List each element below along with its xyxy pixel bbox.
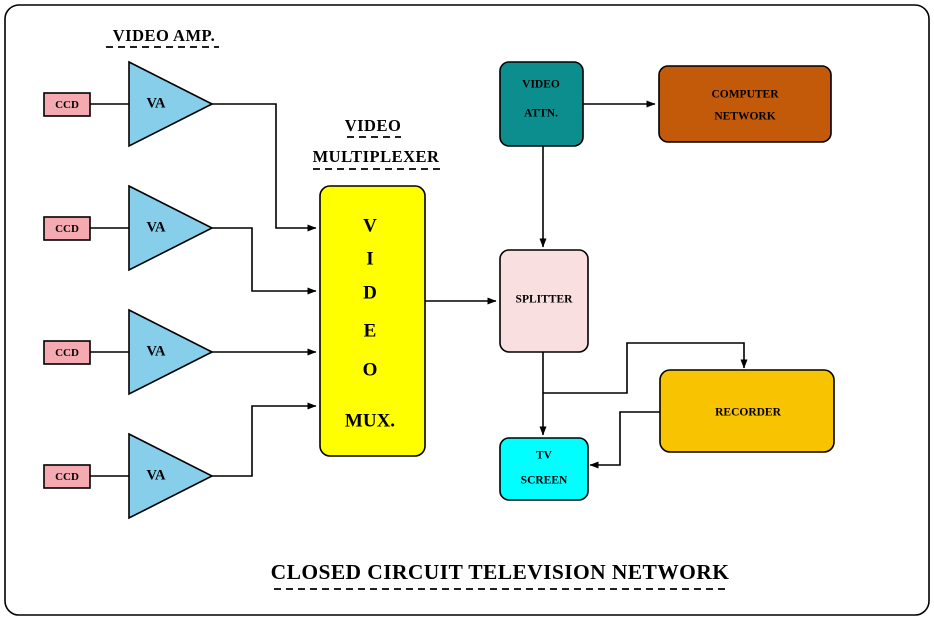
cctv-block-diagram: VIDEO AMP. VIDEO MULTIPLEXER bbox=[0, 0, 934, 620]
diagram-canvas: VIDEO AMP. VIDEO MULTIPLEXER bbox=[0, 0, 934, 620]
mux-label-line-2: I bbox=[366, 248, 373, 269]
ccd-label: CCD bbox=[55, 99, 79, 111]
video-attn-label-line1: VIDEO bbox=[522, 79, 560, 91]
video-attn-box[interactable] bbox=[500, 62, 583, 146]
mux-label-line-1: V bbox=[363, 215, 377, 236]
ccd-sensor-4[interactable]: CCD bbox=[44, 465, 90, 488]
va-label: VA bbox=[146, 467, 166, 483]
video-multiplexer-title-line1: VIDEO bbox=[345, 116, 402, 135]
computer-network-label-line2: NETWORK bbox=[714, 111, 775, 123]
video-multiplexer-block[interactable]: V I D E O MUX. bbox=[320, 186, 425, 456]
recorder-block[interactable]: RECORDER bbox=[660, 370, 834, 452]
splitter-label: SPLITTER bbox=[516, 294, 574, 306]
tv-screen-label-line1: TV bbox=[536, 450, 553, 462]
tv-screen-box[interactable] bbox=[500, 438, 588, 500]
recorder-label: RECORDER bbox=[715, 407, 782, 419]
va-label: VA bbox=[146, 219, 166, 235]
diagram-bottom-title: CLOSED CIRCUIT TELEVISION NETWORK bbox=[271, 560, 730, 584]
ccd-sensor-2[interactable]: CCD bbox=[44, 217, 90, 240]
va-label: VA bbox=[146, 95, 166, 111]
ccd-sensor-3[interactable]: CCD bbox=[44, 341, 90, 364]
tv-screen-block[interactable]: TV SCREEN bbox=[500, 438, 588, 500]
ccd-label: CCD bbox=[55, 471, 79, 483]
computer-network-box[interactable] bbox=[659, 66, 831, 142]
splitter-block[interactable]: SPLITTER bbox=[500, 250, 588, 352]
video-attn-label-line2: ATTN. bbox=[524, 108, 558, 120]
video-multiplexer-title-line2: MULTIPLEXER bbox=[313, 147, 440, 166]
video-amp-title: VIDEO AMP. bbox=[113, 26, 216, 45]
mux-label-line-3: D bbox=[363, 282, 377, 303]
computer-network-label-line1: COMPUTER bbox=[711, 89, 779, 101]
computer-network-block[interactable]: COMPUTER NETWORK bbox=[659, 66, 831, 142]
video-attenuator-block[interactable]: VIDEO ATTN. bbox=[500, 62, 583, 146]
ccd-sensor-1[interactable]: CCD bbox=[44, 93, 90, 116]
mux-label-line-5: O bbox=[363, 359, 378, 380]
mux-label-line-6: MUX. bbox=[345, 410, 395, 431]
ccd-label: CCD bbox=[55, 347, 79, 359]
va-label: VA bbox=[146, 343, 166, 359]
mux-label-line-4: E bbox=[364, 320, 377, 341]
ccd-label: CCD bbox=[55, 223, 79, 235]
tv-screen-label-line2: SCREEN bbox=[521, 475, 568, 487]
